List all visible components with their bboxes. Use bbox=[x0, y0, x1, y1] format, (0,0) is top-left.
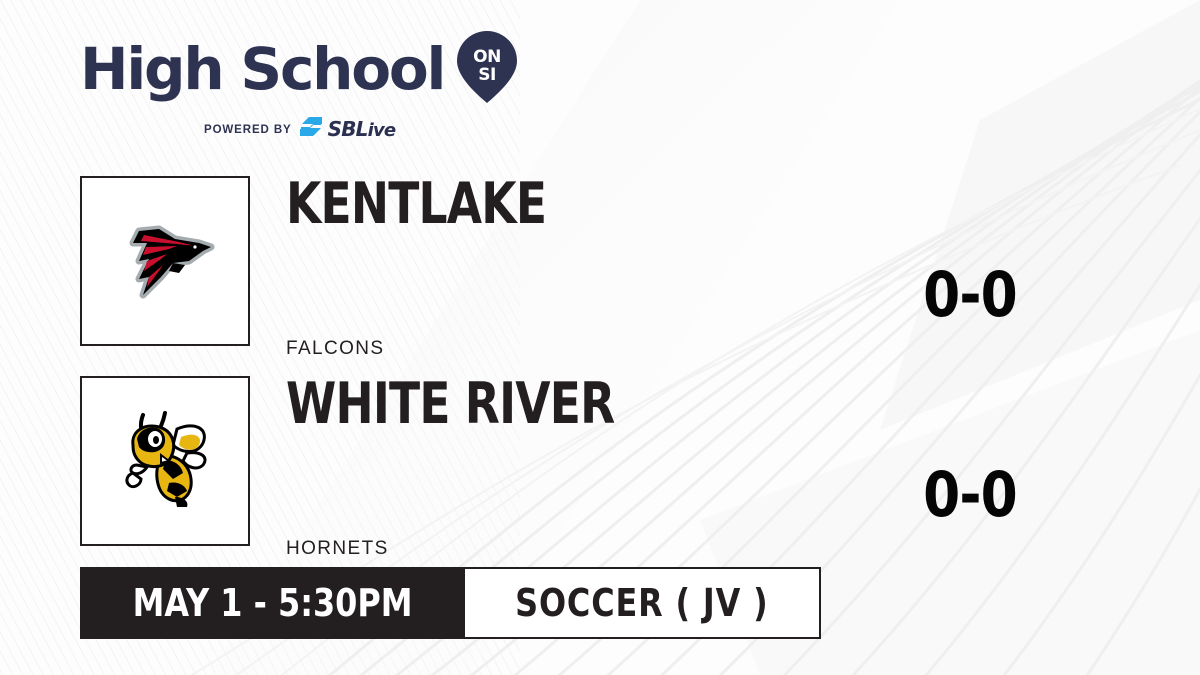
team-record-2: 0-0 bbox=[914, 458, 1026, 531]
powered-by-label: POWERED BY bbox=[204, 124, 292, 136]
brand-lockup: High School ON SI POWERED BY SBLive bbox=[80, 28, 520, 143]
game-sport-block: SOCCER ( JV ) bbox=[465, 567, 821, 639]
on-si-pin-icon: ON SI bbox=[456, 30, 518, 109]
game-datetime-block: MAY 1 - 5:30PM bbox=[80, 567, 465, 639]
team-mascot-1: FALCONS bbox=[286, 338, 385, 360]
pin-text-si: SI bbox=[478, 65, 496, 85]
page-title: High School bbox=[80, 40, 444, 98]
game-sport-text: SOCCER ( JV ) bbox=[515, 581, 768, 625]
brand-title-row: High School ON SI bbox=[80, 28, 520, 109]
hornet-logo-icon bbox=[103, 399, 227, 523]
falcon-logo-icon bbox=[103, 199, 227, 323]
team-name-2: WHITE RIVER bbox=[286, 376, 614, 433]
game-datetime-text: MAY 1 - 5:30PM bbox=[133, 581, 413, 625]
pin-text-on: ON bbox=[473, 47, 501, 67]
powered-by-row: POWERED BY SBLive bbox=[204, 116, 520, 143]
game-info-bar: MAY 1 - 5:30PM SOCCER ( JV ) bbox=[80, 567, 821, 639]
sblive-s-mark-icon bbox=[299, 116, 323, 143]
team-logo-card-1 bbox=[80, 176, 250, 346]
team-record-1: 0-0 bbox=[914, 258, 1026, 331]
team-logo-card-2 bbox=[80, 376, 250, 546]
team-mascot-2: HORNETS bbox=[286, 538, 389, 560]
team-name-1: KENTLAKE bbox=[286, 176, 546, 233]
sblive-italic-part: ive bbox=[368, 120, 396, 141]
sblive-wordmark: SBLive bbox=[328, 119, 396, 140]
sblive-bold-part: SBL bbox=[328, 117, 368, 141]
